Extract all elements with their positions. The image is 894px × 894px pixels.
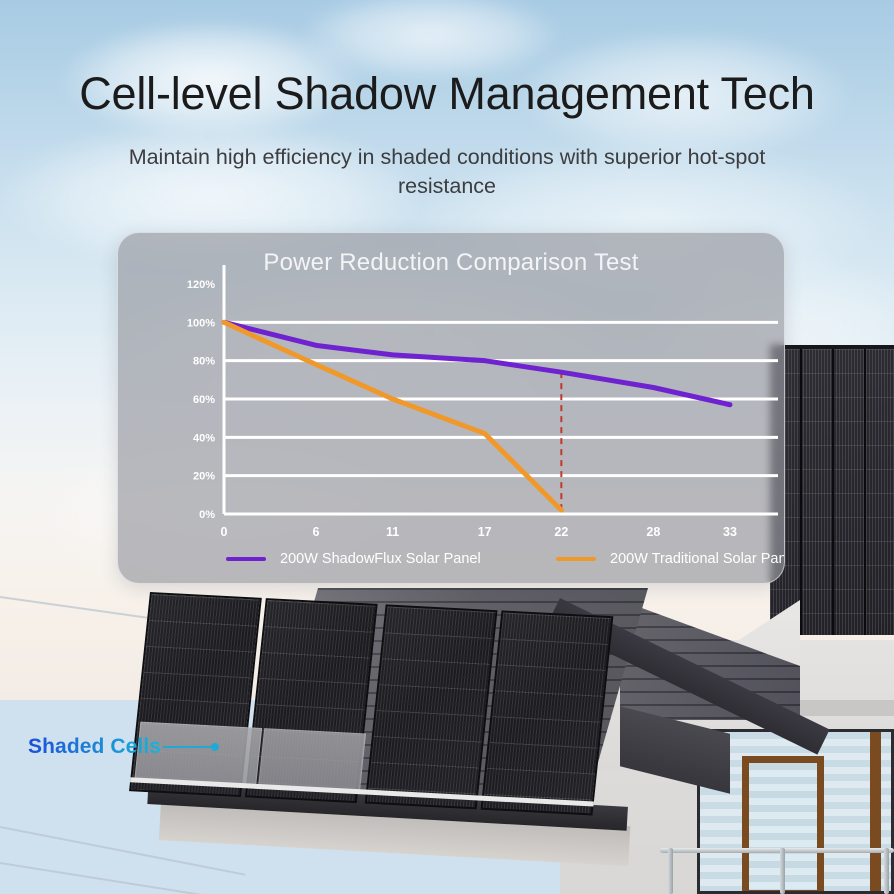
legend-item[interactable]: 200W ShadowFlux Solar Panel (226, 551, 481, 567)
y-axis-tick-label: 20% (193, 471, 215, 483)
railing-post (668, 848, 673, 894)
solar-panel (481, 610, 614, 815)
x-axis-tick-label: 17 (478, 525, 492, 539)
x-axis-tick-label: 22 (554, 525, 568, 539)
legend-color-swatch (226, 557, 266, 561)
x-axis-tick-label: 6 (313, 525, 320, 539)
railing-post (884, 848, 889, 894)
y-axis-tick-label: 60% (193, 394, 215, 406)
chart-series-line (224, 322, 730, 404)
x-axis-tick-label: 28 (646, 525, 660, 539)
legend-label: 200W ShadowFlux Solar Panel (280, 551, 481, 567)
solar-panel (365, 604, 498, 809)
shaded-cells-label: Shaded Cells (28, 735, 161, 759)
legend-color-swatch (556, 557, 596, 561)
solar-panel-array (129, 592, 609, 815)
y-axis-tick-label: 100% (187, 317, 215, 329)
power-line (0, 862, 208, 894)
chart-series-line (224, 322, 561, 510)
shaded-cells-callout: Shaded Cells (28, 735, 219, 759)
far-solar-panel-array (770, 345, 894, 635)
legend-item[interactable]: 200W Traditional Solar Panel (556, 551, 785, 567)
chart-legend: 200W ShadowFlux Solar Panel200W Traditio… (118, 551, 785, 577)
page-title: Cell-level Shadow Management Tech (0, 68, 894, 120)
chart-plot-area: 0%20%40%60%80%100%120%061117222833Shaded… (118, 233, 785, 584)
callout-leader-line (163, 746, 211, 748)
x-axis-tick-label: 0 (221, 525, 228, 539)
railing-post (780, 848, 785, 894)
y-axis-tick-label: 0% (199, 509, 215, 521)
callout-dot-icon (211, 743, 219, 751)
y-axis-tick-label: 120% (187, 279, 215, 291)
balcony-railing (660, 848, 894, 853)
x-axis-tick-label: 33 (723, 525, 737, 539)
chart-card: Power Reduction Comparison Test 0%20%40%… (117, 232, 785, 584)
legend-label: 200W Traditional Solar Panel (610, 551, 785, 567)
shaded-cells-region (258, 728, 366, 791)
x-axis-tick-label: 11 (386, 525, 399, 539)
y-axis-tick-label: 80% (193, 356, 215, 368)
page-subtitle: Maintain high efficiency in shaded condi… (112, 143, 782, 201)
y-axis-tick-label: 40% (193, 432, 215, 444)
chart-svg: 0%20%40%60%80%100%120%061117222833Shaded… (118, 233, 785, 584)
